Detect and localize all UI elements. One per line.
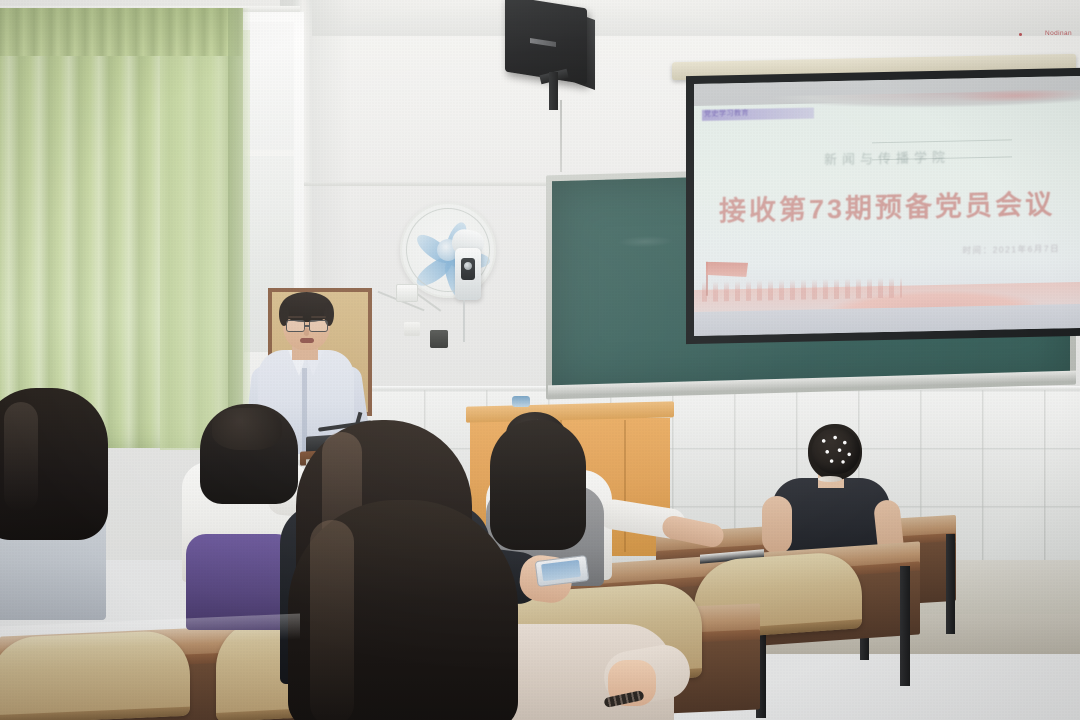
speaker-bracket bbox=[549, 72, 558, 110]
slide-corner-tag-text: 党史学习教育 bbox=[704, 106, 816, 120]
wall-moulding bbox=[280, 182, 580, 186]
classroom-photo: 党史学习教育 新闻与传播学院 接收第73期预备党员会议 时间：2021年6月7日 bbox=[0, 0, 1080, 720]
slide-red-flag-icon bbox=[706, 261, 748, 278]
wall-plug[interactable] bbox=[430, 330, 448, 348]
lectern-panel-seam bbox=[624, 420, 626, 552]
curtain-pleat-header bbox=[0, 8, 243, 56]
curtain-edge bbox=[228, 8, 250, 448]
slide-title: 接收第73期预备党员会议 bbox=[694, 182, 1080, 229]
student-center-grey-hair bbox=[490, 420, 586, 550]
desk-leg bbox=[946, 534, 955, 634]
slide-skyline bbox=[702, 276, 902, 302]
fan-pull-cord[interactable] bbox=[463, 300, 465, 342]
student-front-left-hair-sheen bbox=[4, 402, 38, 512]
presenter-glasses-bridge bbox=[305, 325, 310, 327]
presenter-glasses-icon bbox=[286, 320, 305, 332]
student-right-black-shoulder bbox=[762, 496, 792, 554]
presenter-glasses-icon bbox=[309, 320, 328, 332]
wall-socket[interactable] bbox=[396, 284, 418, 302]
desk-leg bbox=[900, 566, 910, 686]
watermark-text: Nodinan bbox=[1045, 30, 1072, 37]
presenter-nose bbox=[304, 328, 309, 336]
student-front-beige-hair-strand bbox=[310, 520, 354, 720]
logo-dot-icon bbox=[1019, 33, 1022, 36]
wall-socket[interactable] bbox=[404, 322, 420, 336]
slide-footer: 时间：2021年6月7日 bbox=[694, 242, 1060, 262]
speaker-cable bbox=[560, 100, 562, 172]
projection-screen: 党史学习教育 新闻与传播学院 接收第73期预备党员会议 时间：2021年6月7日 bbox=[694, 76, 1080, 336]
fan-speed-knob[interactable] bbox=[464, 262, 472, 270]
lectern-cup bbox=[512, 396, 530, 407]
student-right-black-hair-clip-pearls bbox=[814, 430, 858, 472]
student-left-second-hair-clip bbox=[212, 408, 282, 450]
student-right-black-necklace bbox=[818, 476, 842, 482]
presenter-mouth bbox=[300, 338, 314, 343]
slide-organization: 新闻与传播学院 bbox=[694, 144, 1080, 171]
window-mullion bbox=[244, 150, 294, 156]
